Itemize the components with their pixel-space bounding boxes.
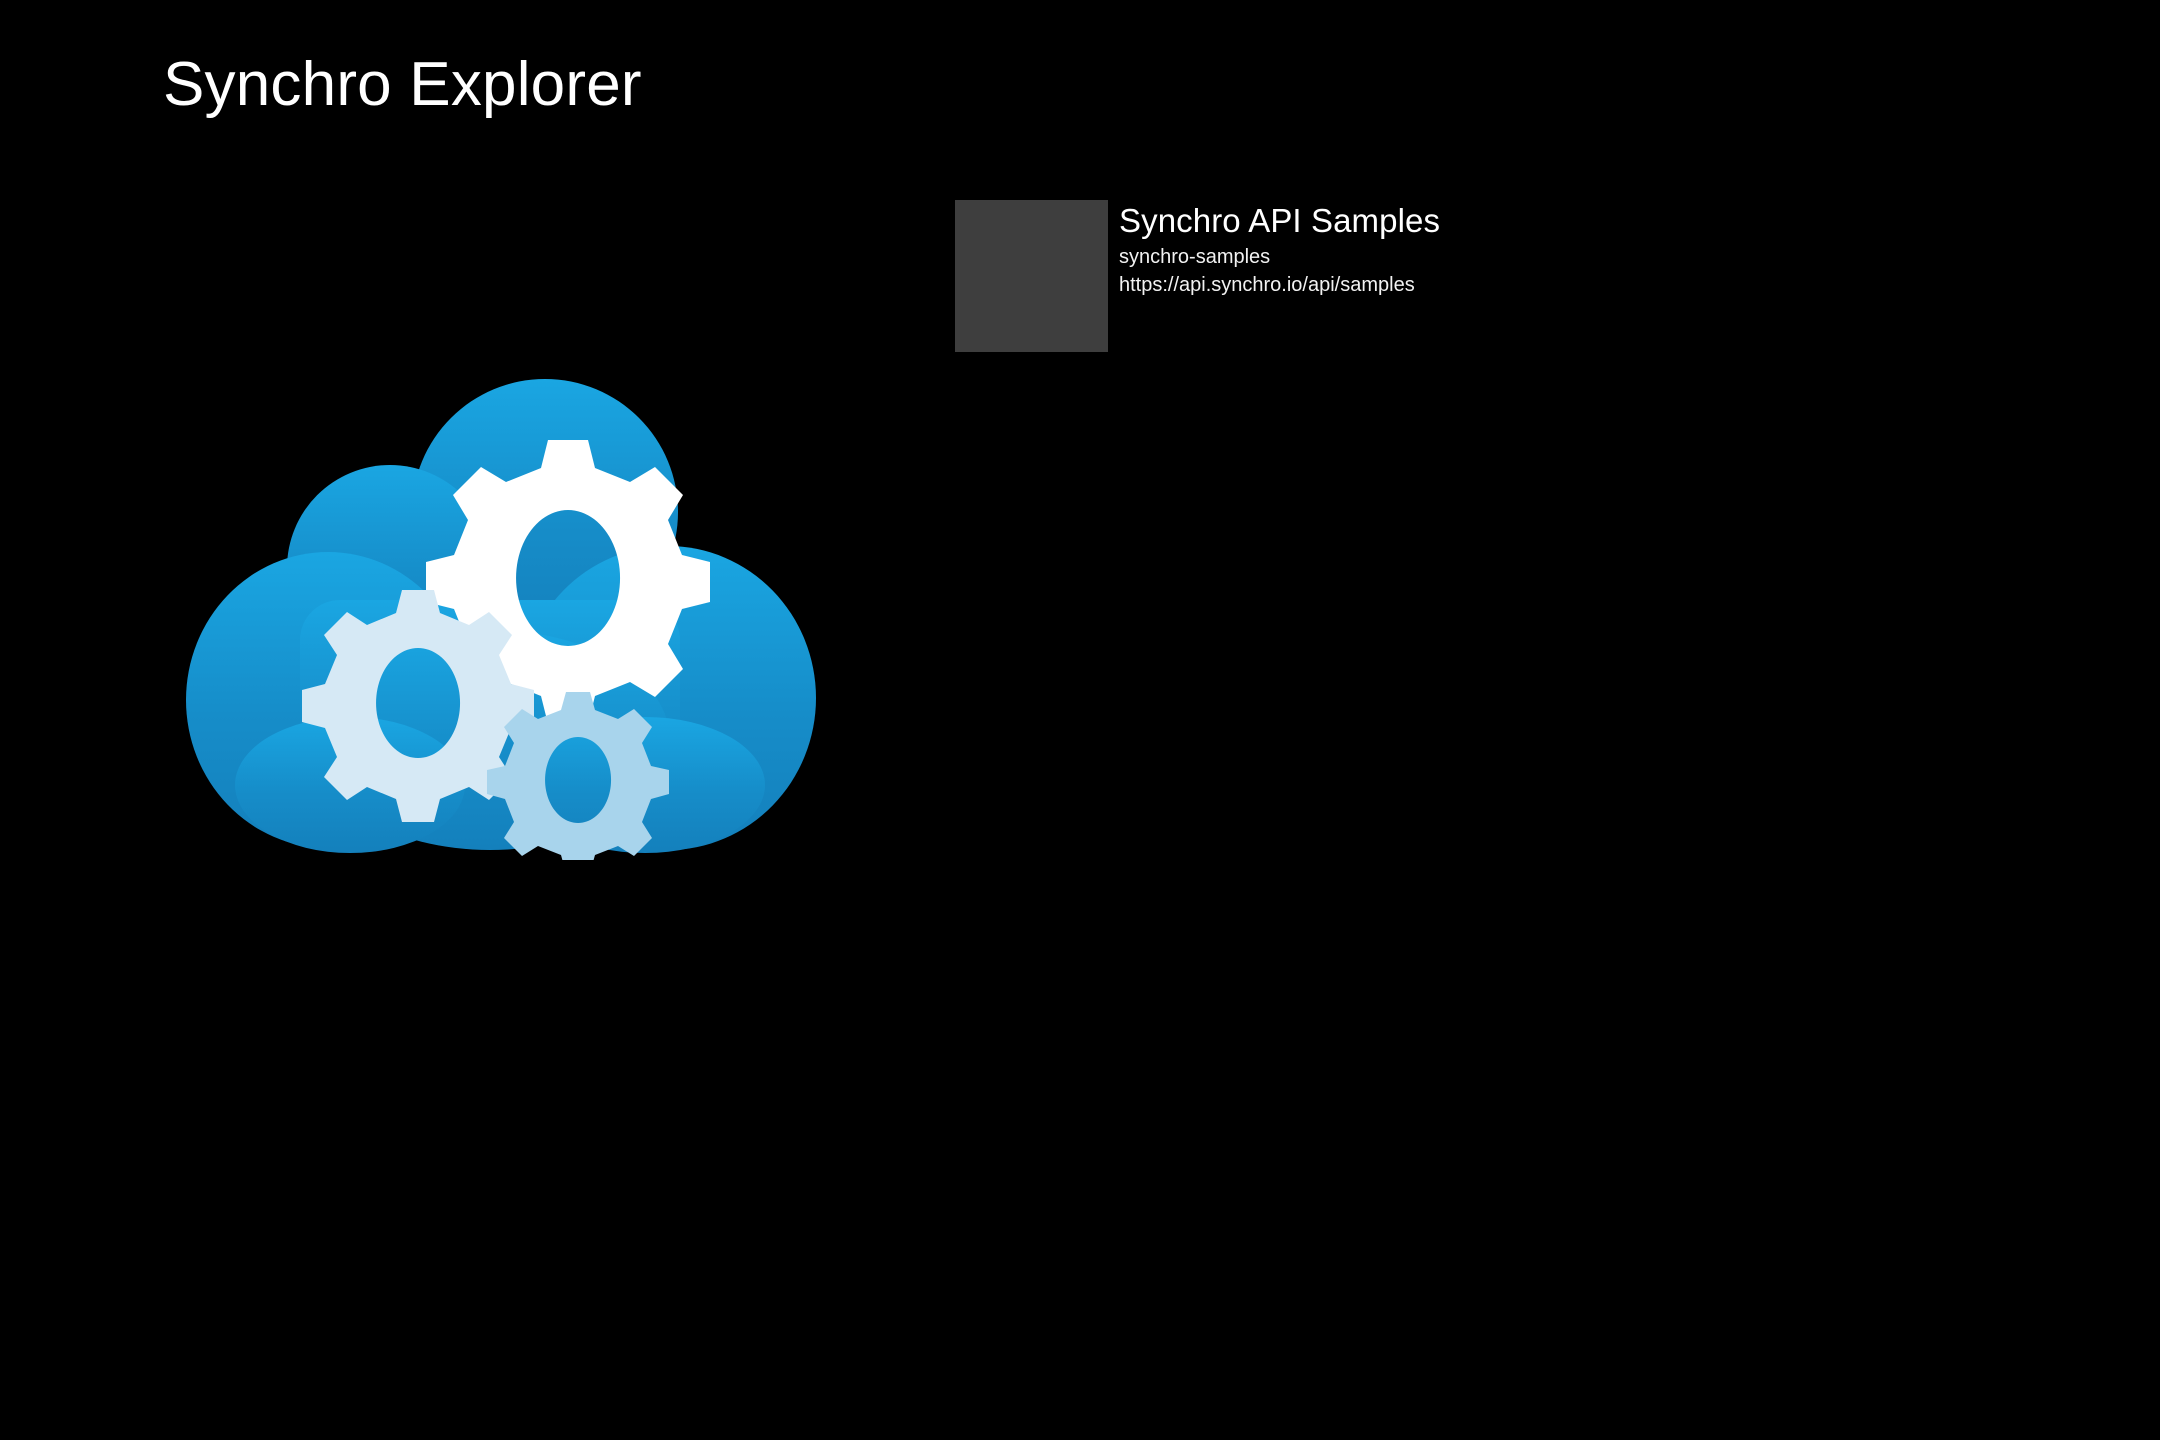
resource-card-text: Synchro API Samples synchro-samples http… xyxy=(1119,200,1440,299)
resource-title: Synchro API Samples xyxy=(1119,202,1440,240)
resource-thumbnail[interactable] xyxy=(955,200,1108,352)
resource-url: https://api.synchro.io/api/samples xyxy=(1119,272,1440,299)
page-title: Synchro Explorer xyxy=(163,46,642,124)
resource-card[interactable]: Synchro API Samples synchro-samples http… xyxy=(955,200,1440,352)
cloud-gears-icon xyxy=(150,300,850,860)
resource-subtitle: synchro-samples xyxy=(1119,244,1440,271)
